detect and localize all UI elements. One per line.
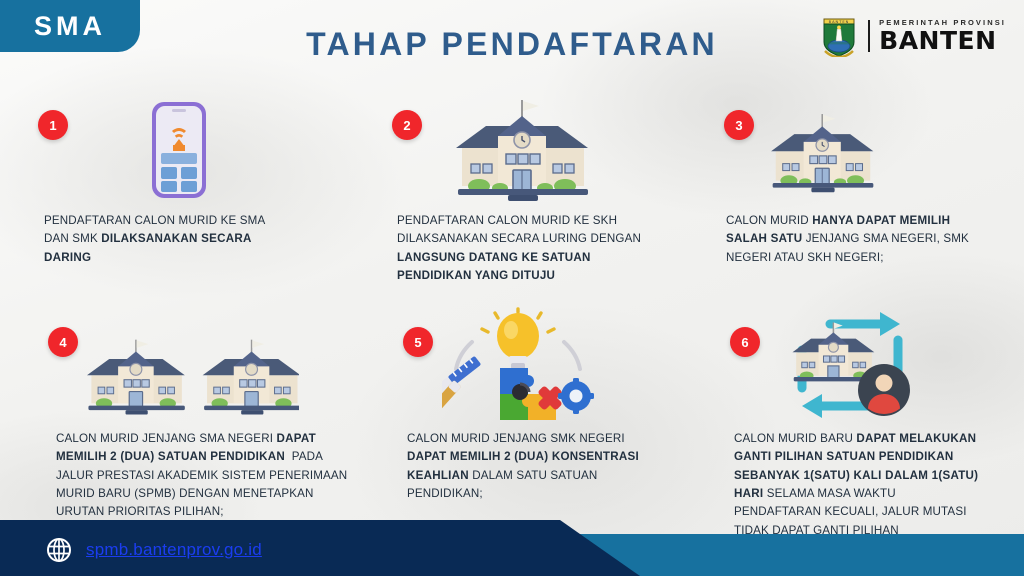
step-badge-4: 4 [48,327,78,357]
step-text-4: CALON MURID JENJANG SMA NEGERI DAPAT MEM… [56,430,366,522]
step-badge-3: 3 [724,110,754,140]
svg-text:BANTEN: BANTEN [829,20,850,24]
two-school-buildings-icon [84,330,299,422]
step-text-2: PENDAFTARAN CALON MURID KE SKH DILAKSANA… [397,212,697,285]
step-text-3: CALON MURID HANYA DAPAT MEMILIH SALAH SA… [726,212,1016,267]
step-badge-5: 5 [403,327,433,357]
step-badge-2: 2 [392,110,422,140]
brand-subtitle: PEMERINTAH PROVINSI [879,19,1006,27]
province-branding: BANTEN PEMERINTAH PROVINSI BANTEN [819,14,1006,58]
banten-crest-icon: BANTEN [819,15,859,57]
website-url[interactable]: spmb.bantenprov.go.id [86,540,262,560]
school-building-icon [768,104,878,200]
step-badge-1: 1 [38,110,68,140]
step-badge-6: 6 [730,327,760,357]
step-text-5: CALON MURID JENJANG SMK NEGERI DAPAT MEM… [407,430,697,503]
school-building-icon [452,96,594,202]
globe-icon [46,537,72,563]
slide-canvas: SMA TAHAP PENDAFTARAN BANTEN PEMERINTAH … [0,0,1024,576]
brand-title: BANTEN [879,28,1006,53]
step-text-1: PENDAFTARAN CALON MURID KE SMA DAN SMK D… [44,212,334,267]
skills-competency-cluster-icon [442,306,594,422]
smartphone-online-registration-icon [144,98,216,202]
step-text-6: CALON MURID BARU DAPAT MELAKUKAN GANTI P… [734,430,1024,540]
footer-website[interactable]: spmb.bantenprov.go.id [46,537,262,563]
brand-divider [868,20,870,52]
school-student-exchange-icon [772,306,930,422]
